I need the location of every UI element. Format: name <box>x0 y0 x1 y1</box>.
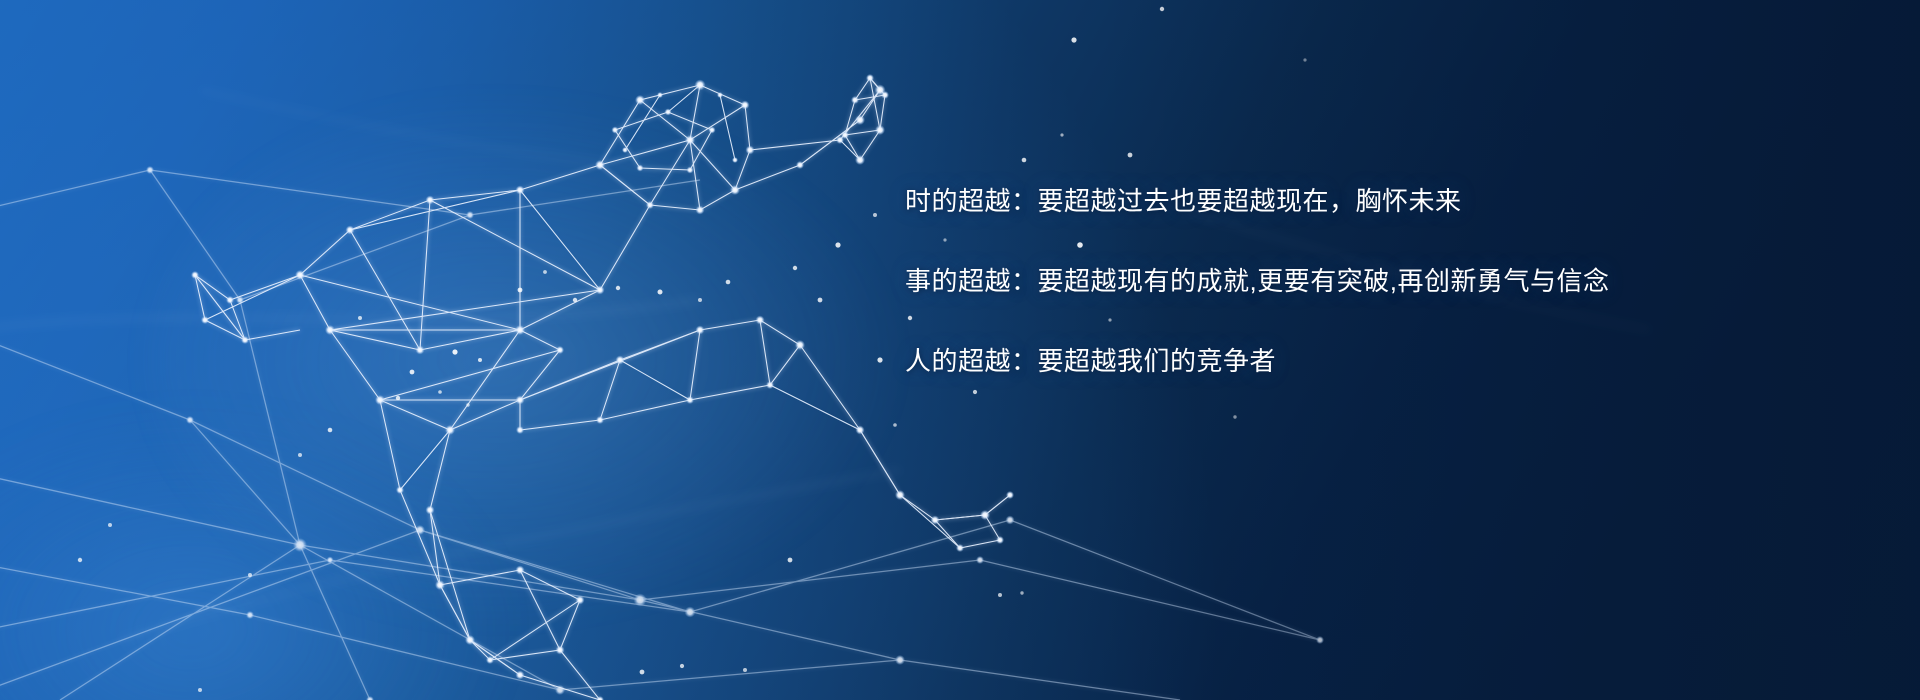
hero-banner: 时的超越：要超越过去也要超越现在，胸怀未来 事的超越：要超越现有的成就,更要有突… <box>0 0 1920 700</box>
slogan-line-people: 人的超越：要超越我们的竞争者 <box>905 348 1525 374</box>
runner-figure <box>195 78 1010 700</box>
runner-figure-core <box>191 74 1014 700</box>
slogan-line-time: 时的超越：要超越过去也要超越现在，胸怀未来 <box>905 188 1525 214</box>
slogan-block: 时的超越：要超越过去也要超越现在，胸怀未来 事的超越：要超越现有的成就,更要有突… <box>905 188 1525 374</box>
slogan-line-work: 事的超越：要超越现有的成就,更要有突破,再创新勇气与信念 <box>905 268 1525 294</box>
runner-nodes <box>191 74 1014 700</box>
